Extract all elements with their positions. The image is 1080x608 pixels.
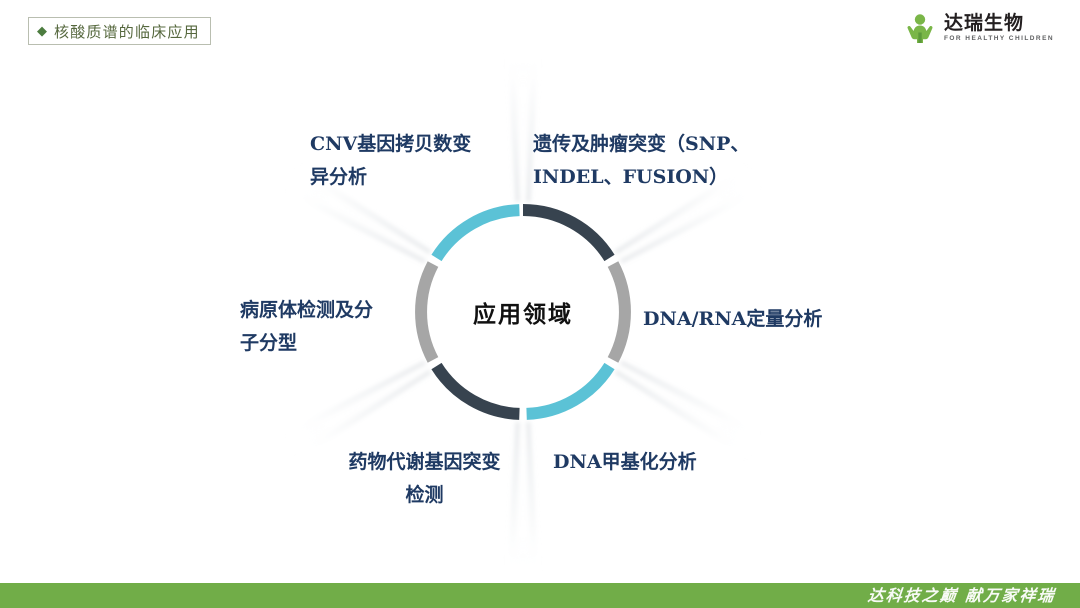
diagram-node-cnv: CNV基因拷贝数变 异分析 xyxy=(310,128,520,193)
diagram-node-mutation: 遗传及肿瘤突变（SNP、 INDEL、FUSION） xyxy=(533,128,803,193)
footer-slogan: 达科技之巅 献万家祥瑞 xyxy=(867,582,1057,606)
diagram-node-methylation: DNA甲基化分析 xyxy=(553,446,773,479)
ring-segment-top-right xyxy=(523,210,610,258)
donut-ring xyxy=(0,0,1080,575)
diagram-center-label: 应用领域 xyxy=(473,295,573,329)
application-fields-diagram: 应用领域 CNV基因拷贝数变 异分析 遗传及肿瘤突变（SNP、 INDEL、FU… xyxy=(0,0,1080,575)
ring-segment-right xyxy=(613,264,625,360)
footer-bar: 达科技之巅 献万家祥瑞 xyxy=(0,583,1080,608)
ring-segment-bottom-right xyxy=(527,366,610,414)
slide-canvas: ◆ 核酸质谱的临床应用 达瑞生物 FOR HEALTHY CHILDREN xyxy=(0,0,1080,608)
diagram-node-pathogen: 病原体检测及分 子分型 xyxy=(240,294,430,359)
ring-segment-top-left xyxy=(437,210,520,258)
diagram-node-quant: DNA/RNA定量分析 xyxy=(643,303,883,336)
diagram-node-pharmaco: 药物代谢基因突变 检测 xyxy=(322,446,527,511)
ring-segment-bottom-left xyxy=(437,366,520,414)
